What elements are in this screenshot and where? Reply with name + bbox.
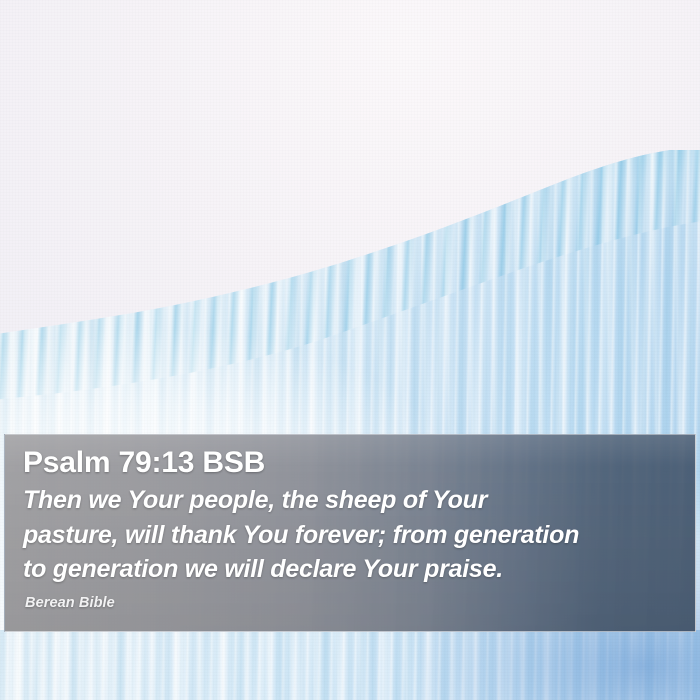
verse-source-attribution: Berean Bible [25, 595, 679, 611]
verse-text-line-3: to generation we will declare Your prais… [23, 552, 679, 587]
verse-image-card: Psalm 79:13 BSB Then we Your people, the… [0, 0, 700, 700]
verse-text-line-2: pasture, will thank You forever; from ge… [23, 518, 679, 553]
verse-text: Then we Your people, the sheep of Your p… [23, 483, 679, 587]
verse-reference: Psalm 79:13 BSB [23, 446, 679, 480]
scripture-overlay-panel: Psalm 79:13 BSB Then we Your people, the… [4, 434, 696, 632]
verse-text-line-1: Then we Your people, the sheep of Your [23, 483, 679, 518]
